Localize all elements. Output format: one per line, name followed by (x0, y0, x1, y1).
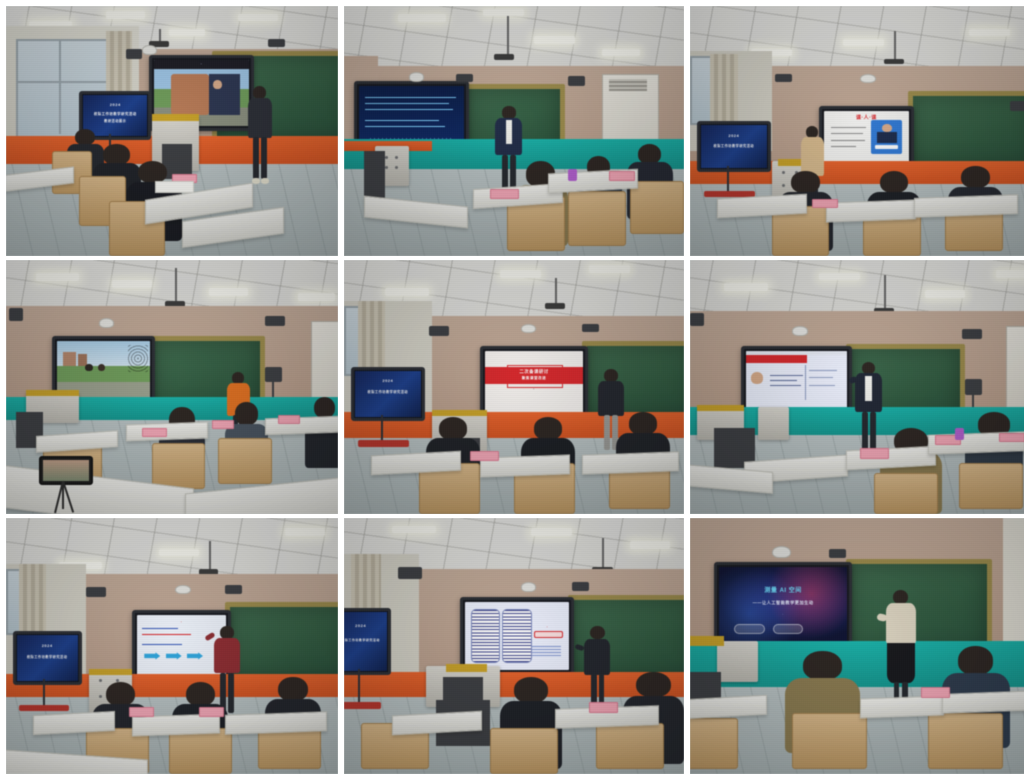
slide-subtitle-1: 校际工作坊教学研究活动 (83, 111, 147, 116)
desk (132, 714, 220, 737)
photo-cell-5[interactable]: 二次备课研讨 聚焦课堂改进 · 2024 校际工作坊教学研究活动 (344, 260, 684, 514)
name-card (142, 428, 167, 438)
chair (928, 713, 1003, 769)
wall-display-5[interactable]: 二次备课研讨 聚焦课堂改进 · (480, 346, 588, 418)
chalkboard (908, 91, 1024, 171)
desk (914, 194, 1018, 217)
chair (218, 438, 271, 484)
wall-display-3[interactable]: 课·人·课 (819, 106, 913, 167)
mobile-display-7[interactable]: 2024 校际工作坊教学研究活动 (13, 631, 82, 686)
name-card (921, 687, 950, 698)
desk (860, 696, 944, 719)
slide-subtitle-2: 教研活动展示 (83, 118, 147, 123)
presenter (884, 590, 918, 703)
name-card (212, 420, 234, 429)
arrow-shape (144, 652, 160, 659)
name-card (999, 433, 1024, 443)
name-card (589, 702, 618, 713)
slide-screen: · (465, 602, 570, 670)
slide-title: 测量 AI 空间 (719, 585, 848, 594)
slide-subtitle: 校际工作坊教学研究活动 (701, 143, 767, 148)
door (311, 321, 338, 409)
name-card (490, 189, 519, 200)
name-card (129, 707, 154, 717)
slide-subtitle: 校际工作坊教学研究活动 (344, 638, 387, 642)
classroom-scene-8: · 2024 校际工作坊教学研究活动 (344, 518, 684, 774)
mobile-display-5[interactable]: 2024 校际工作坊教学研究活动 (351, 367, 425, 421)
classroom-scene-6 (690, 260, 1024, 514)
wall-display-9[interactable]: 测量 AI 空间 ——让人工智能教学更加生动 · (714, 562, 853, 647)
photo-cell-3[interactable]: 课·人·课 2024 校际工作坊教学研究活动 (690, 6, 1024, 256)
photo-cell-4[interactable]: Presenter in orange jacket beside displa… (6, 260, 338, 514)
slide-year: 2024 (355, 378, 421, 383)
smartphone-on-tripod[interactable] (39, 456, 93, 485)
notebook (155, 181, 194, 193)
chair (874, 473, 939, 514)
presenter (245, 86, 275, 186)
arrow-shape (187, 652, 203, 659)
slide-year: 2024 (17, 643, 78, 648)
chair (690, 718, 738, 769)
presenter (582, 626, 613, 713)
photo-cell-2[interactable]: Male presenter standing centre stage, bl… (344, 6, 684, 256)
slide-button (773, 624, 803, 634)
slide-header-text: · (154, 62, 250, 66)
photo-cell-6[interactable]: Male presenter gesturing toward document… (690, 260, 1024, 514)
slide-button (734, 624, 764, 634)
desk (582, 451, 679, 474)
text-column (471, 609, 500, 662)
name-card (199, 707, 224, 717)
classroom-scene-3: 课·人·课 2024 校际工作坊教学研究活动 (690, 6, 1024, 256)
photo-cell-9[interactable]: 测量 AI 空间 ——让人工智能教学更加生动 · (690, 518, 1024, 774)
classroom-scene-1: · 2024 校际工作坊教学研究活动 教研活动展示 (6, 6, 338, 256)
water-bottle (955, 428, 964, 441)
slide-screen (746, 351, 847, 413)
slide-year: 2024 (83, 102, 147, 107)
name-card (609, 171, 635, 181)
chalkboard (225, 602, 338, 684)
slide-year: 2024 (701, 133, 767, 138)
chair (490, 728, 558, 774)
text-column (502, 609, 531, 662)
name-card (812, 199, 838, 209)
photo-collage-grid: · 2024 校际工作坊教学研究活动 教研活动展示 (0, 0, 1024, 768)
classroom-scene-9: 测量 AI 空间 ——让人工智能教学更加生动 · (690, 518, 1024, 774)
desk (392, 710, 482, 735)
desk (942, 690, 1024, 713)
name-card (278, 415, 300, 424)
desk (33, 710, 115, 734)
slide-subtitle: ——让人工智能教学更加生动 (719, 600, 848, 606)
photo-cell-8[interactable]: · 2024 校际工作坊教学研究活动 (344, 518, 684, 774)
classroom-scene-7: · 2024 校际工作坊教学研究活动 (6, 518, 338, 774)
slide-screen: 课·人·课 (824, 111, 908, 162)
classroom-scene-4 (6, 260, 338, 514)
slide-year: 2024 (344, 623, 387, 628)
classroom-scene-2 (344, 6, 684, 256)
water-bottle (568, 169, 577, 182)
chair (792, 713, 867, 769)
mobile-display-3[interactable]: 2024 校际工作坊教学研究活动 (697, 121, 771, 172)
slide-screen: 二次备课研讨 聚焦课堂改进 · (485, 351, 583, 413)
desk (826, 199, 916, 222)
chair (152, 443, 205, 489)
slide-subtitle: 校际工作坊教学研究活动 (17, 654, 78, 659)
classroom-scene-5: 二次备课研讨 聚焦课堂改进 · 2024 校际工作坊教学研究活动 (344, 260, 684, 514)
presenter (853, 362, 884, 459)
slide-subtitle: 校际工作坊教学研究活动 (355, 389, 421, 394)
slide-screen: 测量 AI 空间 ——让人工智能教学更加生动 · (719, 567, 848, 642)
mobile-display-8[interactable]: 2024 校际工作坊教学研究活动 (344, 608, 391, 675)
photo-cell-1[interactable]: · 2024 校际工作坊教学研究活动 教研活动展示 (6, 6, 338, 256)
name-card (860, 448, 889, 459)
photo-cell-7[interactable]: · 2024 校际工作坊教学研究活动 (6, 518, 338, 774)
desk (225, 711, 327, 734)
chair (568, 191, 626, 246)
name-card (470, 451, 499, 462)
arrow-shape (166, 652, 182, 659)
chair (596, 723, 664, 769)
lectern (717, 641, 758, 682)
chair (959, 463, 1024, 509)
chair (630, 181, 684, 234)
desk (265, 416, 338, 436)
door (1006, 326, 1024, 409)
